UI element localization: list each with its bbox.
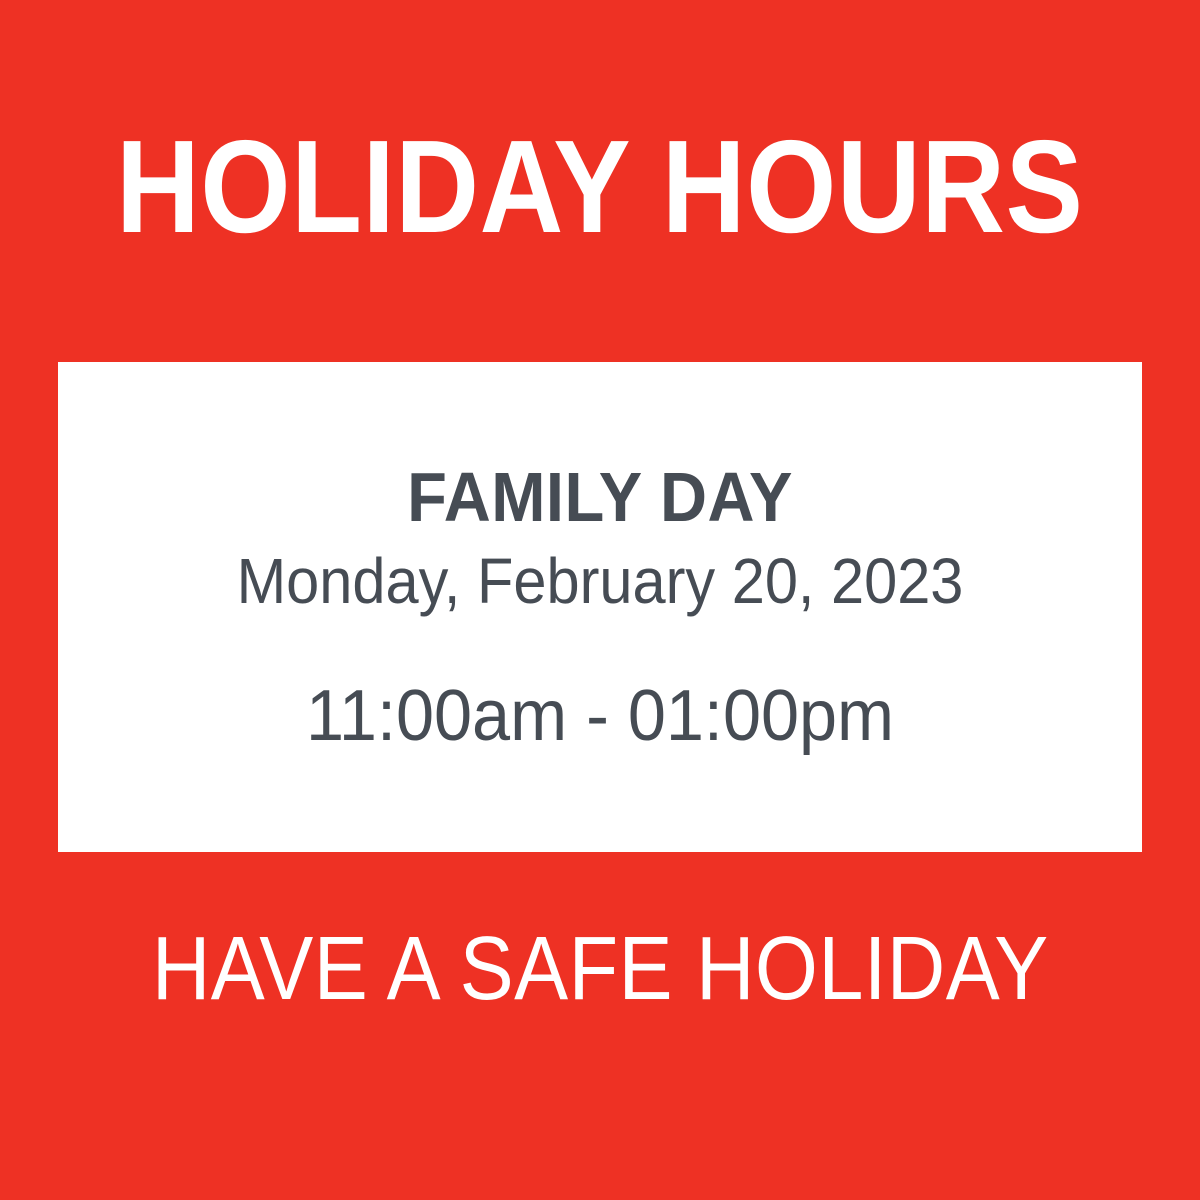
holiday-detail-card: FAMILY DAY Monday, February 20, 2023 11:… bbox=[58, 362, 1142, 852]
holiday-name: FAMILY DAY bbox=[96, 460, 1104, 534]
holiday-date: Monday, February 20, 2023 bbox=[96, 548, 1104, 616]
page-title: HOLIDAY HOURS bbox=[116, 121, 1083, 253]
holiday-hours-poster: HOLIDAY HOURS FAMILY DAY Monday, Februar… bbox=[0, 0, 1200, 1200]
holiday-hours-range: 11:00am - 01:00pm bbox=[85, 678, 1115, 754]
holiday-detail-content: FAMILY DAY Monday, February 20, 2023 11:… bbox=[58, 460, 1142, 754]
headline-band: HOLIDAY HOURS bbox=[0, 0, 1200, 362]
footer-band: HAVE A SAFE HOLIDAY bbox=[0, 852, 1200, 1200]
footer-message: HAVE A SAFE HOLIDAY bbox=[152, 924, 1049, 1014]
